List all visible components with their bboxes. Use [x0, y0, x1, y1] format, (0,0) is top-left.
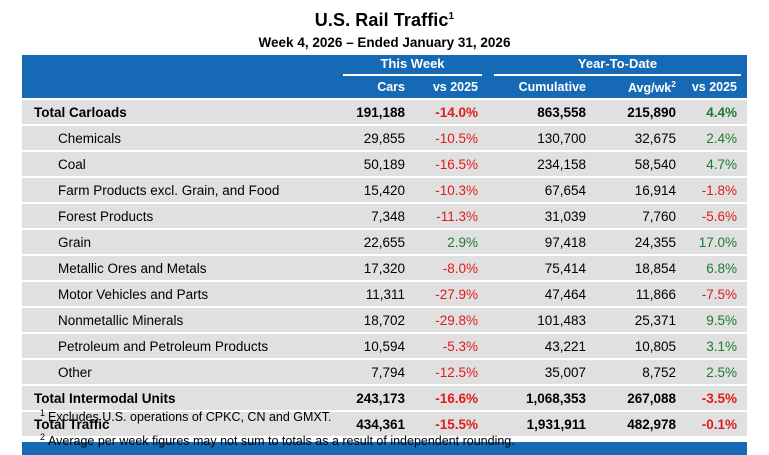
row-label: Forest Products	[22, 203, 337, 229]
cell-cars: 10,594	[337, 333, 415, 359]
cell-vs-2025-ytd: 6.8%	[686, 255, 747, 281]
table-row[interactable]: Forest Products7,348-11.3%31,0397,760-5.…	[22, 203, 747, 229]
footnote: 2Average per week figures may not sum to…	[40, 427, 740, 451]
cell-cumulative: 863,558	[488, 99, 596, 125]
cell-vs-2025-week: -11.3%	[415, 203, 488, 229]
cell-vs-2025-ytd: 2.4%	[686, 125, 747, 151]
table-row[interactable]: Metallic Ores and Metals17,320-8.0%75,41…	[22, 255, 747, 281]
cell-vs-2025-week: -29.8%	[415, 307, 488, 333]
cell-cars: 11,311	[337, 281, 415, 307]
cell-vs-2025-ytd: 17.0%	[686, 229, 747, 255]
cell-cumulative: 67,654	[488, 177, 596, 203]
table-row[interactable]: Chemicals29,855-10.5%130,70032,6752.4%	[22, 125, 747, 151]
cell-cars: 7,348	[337, 203, 415, 229]
table-row[interactable]: Motor Vehicles and Parts11,311-27.9%47,4…	[22, 281, 747, 307]
rail-traffic-table-wrapper: This Week Year-To-Date Cars vs 2025 Cumu…	[22, 55, 747, 455]
cell-cumulative: 31,039	[488, 203, 596, 229]
table-row[interactable]: Nonmetallic Minerals18,702-29.8%101,4832…	[22, 307, 747, 333]
table-row[interactable]: Grain22,6552.9%97,41824,35517.0%	[22, 229, 747, 255]
row-label: Chemicals	[22, 125, 337, 151]
column-header-label	[22, 76, 337, 99]
cell-vs-2025-week: 2.9%	[415, 229, 488, 255]
footnote: 1Excludes U.S. operations of CPKC, CN an…	[40, 403, 740, 427]
cell-cars: 7,794	[337, 359, 415, 385]
cell-cumulative: 101,483	[488, 307, 596, 333]
cell-avg-wk: 215,890	[596, 99, 686, 125]
rail-traffic-table: This Week Year-To-Date Cars vs 2025 Cumu…	[22, 55, 747, 438]
table-group-header-row: This Week Year-To-Date	[22, 55, 747, 76]
cell-avg-wk: 32,675	[596, 125, 686, 151]
cell-cars: 191,188	[337, 99, 415, 125]
page-title-text: U.S. Rail Traffic	[315, 10, 449, 30]
column-header-avg-wk-footnote-marker: 2	[671, 79, 676, 89]
cell-vs-2025-week: -27.9%	[415, 281, 488, 307]
rail-traffic-report: U.S. Rail Traffic1 Week 4, 2026 – Ended …	[0, 0, 769, 451]
cell-cumulative: 75,414	[488, 255, 596, 281]
page-title-footnote-marker: 1	[449, 11, 455, 22]
cell-vs-2025-week: -8.0%	[415, 255, 488, 281]
row-label: Petroleum and Petroleum Products	[22, 333, 337, 359]
cell-avg-wk: 16,914	[596, 177, 686, 203]
cell-vs-2025-ytd: 2.5%	[686, 359, 747, 385]
page-subtitle: Week 4, 2026 – Ended January 31, 2026	[0, 33, 769, 52]
cell-vs-2025-ytd: -7.5%	[686, 281, 747, 307]
cell-vs-2025-ytd: 9.5%	[686, 307, 747, 333]
cell-cumulative: 43,221	[488, 333, 596, 359]
column-header-cars[interactable]: Cars	[337, 76, 415, 99]
table-row[interactable]: Other7,794-12.5%35,0078,7522.5%	[22, 359, 747, 385]
row-label: Total Carloads	[22, 99, 337, 125]
group-header-year-to-date: Year-To-Date	[488, 55, 747, 76]
cell-vs-2025-week: -10.5%	[415, 125, 488, 151]
page-title: U.S. Rail Traffic1	[0, 6, 769, 31]
cell-vs-2025-ytd: 4.4%	[686, 99, 747, 125]
cell-vs-2025-week: -12.5%	[415, 359, 488, 385]
row-label: Coal	[22, 151, 337, 177]
table-row[interactable]: Farm Products excl. Grain, and Food15,42…	[22, 177, 747, 203]
cell-cars: 29,855	[337, 125, 415, 151]
cell-vs-2025-ytd: 3.1%	[686, 333, 747, 359]
cell-vs-2025-ytd: 4.7%	[686, 151, 747, 177]
group-header-year-to-date-label: Year-To-Date	[494, 56, 741, 76]
cell-vs-2025-week: -16.5%	[415, 151, 488, 177]
footnotes-block: 1Excludes U.S. operations of CPKC, CN an…	[40, 403, 740, 451]
cell-avg-wk: 8,752	[596, 359, 686, 385]
cell-cars: 17,320	[337, 255, 415, 281]
column-header-vs-2025-ytd[interactable]: vs 2025	[686, 76, 747, 99]
footnote-marker: 2	[40, 432, 45, 442]
row-label: Grain	[22, 229, 337, 255]
column-header-vs-2025-week[interactable]: vs 2025	[415, 76, 488, 99]
row-label: Other	[22, 359, 337, 385]
group-header-spacer	[22, 55, 337, 76]
cell-cumulative: 97,418	[488, 229, 596, 255]
cell-avg-wk: 25,371	[596, 307, 686, 333]
cell-avg-wk: 10,805	[596, 333, 686, 359]
cell-vs-2025-ytd: -5.6%	[686, 203, 747, 229]
cell-avg-wk: 7,760	[596, 203, 686, 229]
column-header-cumulative[interactable]: Cumulative	[488, 76, 596, 99]
cell-avg-wk: 18,854	[596, 255, 686, 281]
row-label: Farm Products excl. Grain, and Food	[22, 177, 337, 203]
column-header-avg-wk[interactable]: Avg/wk2	[596, 76, 686, 99]
cell-vs-2025-ytd: -1.8%	[686, 177, 747, 203]
group-header-this-week: This Week	[337, 55, 488, 76]
footnote-text: Average per week figures may not sum to …	[48, 434, 515, 448]
cell-cumulative: 47,464	[488, 281, 596, 307]
cell-cumulative: 234,158	[488, 151, 596, 177]
table-row[interactable]: Total Carloads191,188-14.0%863,558215,89…	[22, 99, 747, 125]
column-header-avg-wk-text: Avg/wk	[628, 81, 671, 95]
cell-cumulative: 130,700	[488, 125, 596, 151]
cell-vs-2025-week: -5.3%	[415, 333, 488, 359]
table-row[interactable]: Petroleum and Petroleum Products10,594-5…	[22, 333, 747, 359]
row-label: Motor Vehicles and Parts	[22, 281, 337, 307]
cell-avg-wk: 24,355	[596, 229, 686, 255]
table-body: Total Carloads191,188-14.0%863,558215,89…	[22, 99, 747, 437]
cell-cars: 50,189	[337, 151, 415, 177]
table-header: This Week Year-To-Date Cars vs 2025 Cumu…	[22, 55, 747, 99]
cell-avg-wk: 11,866	[596, 281, 686, 307]
footnote-text: Excludes U.S. operations of CPKC, CN and…	[48, 410, 331, 424]
cell-cars: 22,655	[337, 229, 415, 255]
cell-avg-wk: 58,540	[596, 151, 686, 177]
table-column-header-row: Cars vs 2025 Cumulative Avg/wk2 vs 2025	[22, 76, 747, 99]
cell-vs-2025-week: -10.3%	[415, 177, 488, 203]
cell-cars: 18,702	[337, 307, 415, 333]
cell-cars: 15,420	[337, 177, 415, 203]
table-row[interactable]: Coal50,189-16.5%234,15858,5404.7%	[22, 151, 747, 177]
cell-cumulative: 35,007	[488, 359, 596, 385]
group-header-this-week-label: This Week	[343, 56, 482, 76]
footnote-marker: 1	[40, 408, 45, 418]
report-title-block: U.S. Rail Traffic1 Week 4, 2026 – Ended …	[0, 0, 769, 52]
row-label: Metallic Ores and Metals	[22, 255, 337, 281]
cell-vs-2025-week: -14.0%	[415, 99, 488, 125]
row-label: Nonmetallic Minerals	[22, 307, 337, 333]
